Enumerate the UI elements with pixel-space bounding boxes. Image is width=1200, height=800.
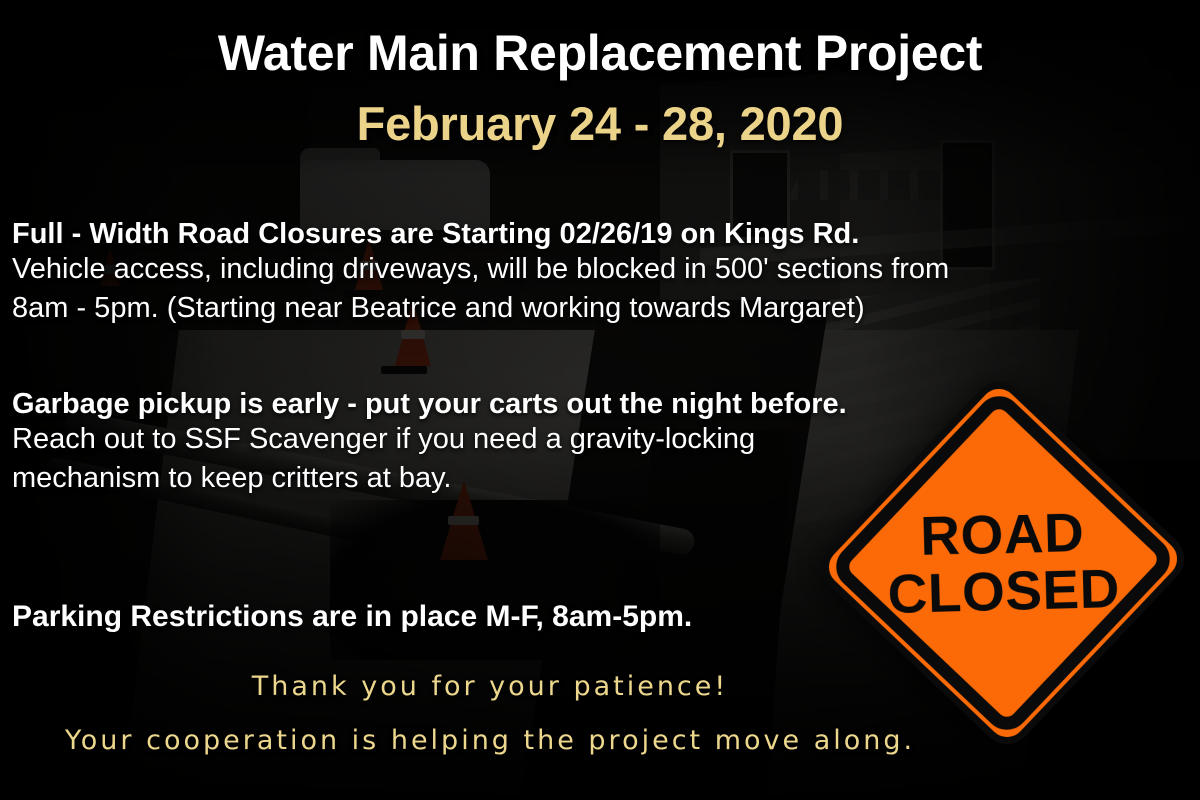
road-closed-sign-label: ROAD CLOSED [810, 370, 1196, 756]
sign-line-1: ROAD [920, 504, 1085, 565]
road-closures-line-2: 8am - 5pm. (Starting near Beatrice and w… [12, 289, 1197, 327]
project-date-range: February 24 - 28, 2020 [0, 96, 1200, 151]
road-closures-line-1: Vehicle access, including driveways, wil… [12, 250, 1197, 288]
section-parking-restrictions: Parking Restrictions are in place M-F, 8… [12, 600, 912, 634]
section-road-closures: Full - Width Road Closures are Starting … [12, 218, 1197, 327]
parking-restrictions-headline: Parking Restrictions are in place M-F, 8… [12, 600, 912, 634]
road-closures-headline: Full - Width Road Closures are Starting … [12, 218, 1197, 250]
page-title: Water Main Replacement Project [0, 24, 1200, 82]
poster-canvas: Water Main Replacement Project February … [0, 0, 1200, 800]
sign-line-2: CLOSED [887, 560, 1121, 623]
road-closed-sign-icon: ROAD CLOSED [810, 370, 1196, 756]
